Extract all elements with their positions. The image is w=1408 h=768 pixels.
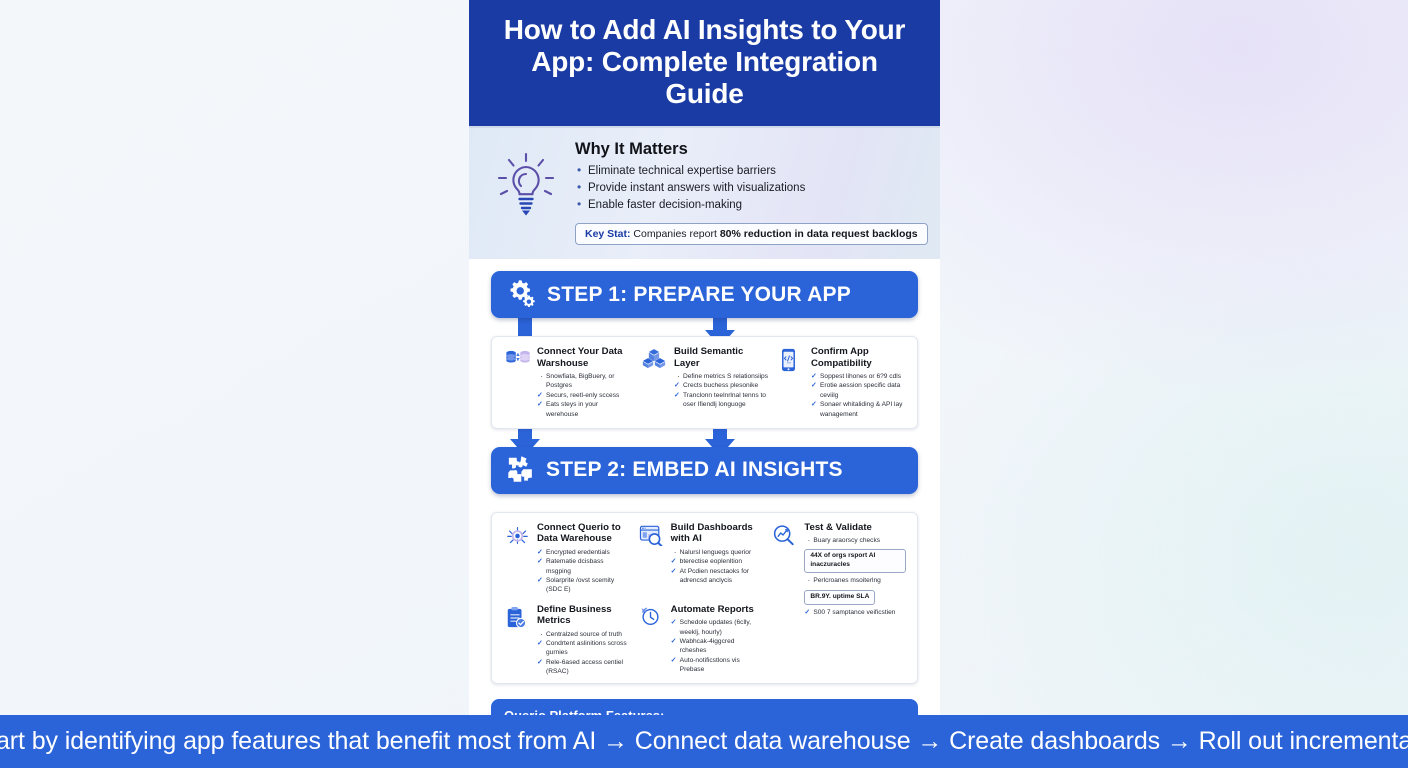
list-item: Ratematie dcisbass msgping (537, 557, 629, 576)
card-title: Confirm App Compatibility (811, 346, 906, 369)
list-item: Schedole updates (6clly, weeklj, hourly) (671, 618, 763, 637)
list-item: Enable faster decision-making (575, 197, 928, 214)
card-feature-list: Encrypted eredentials Ratematie dcisbass… (537, 548, 629, 595)
list-item: Wabhcak-4iggcred rcheshes (671, 637, 763, 656)
why-it-matters-body: Why It Matters Eliminate technical exper… (575, 140, 928, 245)
list-item: Perlcroanes msoiterlng (804, 576, 906, 585)
list-item: Eats steys in your werehouse (537, 400, 632, 419)
card-feature-list: Define metrics S relationsiips Crects bu… (674, 372, 769, 409)
card-title: Connect Querio to Data Warehouse (537, 522, 629, 545)
list-item: Solarprite /ovst scemity (SDC E) (537, 576, 629, 595)
infographic-sheet: How to Add AI Insights to Your App: Comp… (469, 0, 940, 719)
list-item: Soppest lihones or 6?9 cdls (811, 372, 906, 381)
card-body: Connect Querio to Data Warehouse Encrypt… (537, 522, 629, 595)
footer-text: Start by identifying app features that b… (0, 727, 1408, 756)
list-item: Sonaer whitaliding & API lay wanagement (811, 400, 906, 419)
card-body: Connect Your Data Warshouse Snowfiata, B… (537, 346, 632, 419)
card-connect-data-warehouse: Connect Your Data Warshouse Snowfiata, B… (500, 346, 637, 419)
clock-refresh-icon (639, 604, 665, 677)
database-sync-icon (505, 346, 531, 419)
card-body: Build Semantic Layer Define metrics S re… (674, 346, 769, 419)
list-item: Auto-notificstlons vis Prebase (671, 656, 763, 675)
list-item: Crects buchess plesonike (674, 381, 769, 390)
step-1-label: STEP 1: PREPARE YOUR APP (547, 283, 851, 307)
list-item: Securs, reetl-enly sccess (537, 391, 632, 400)
card-body: Automate Reports Schedole updates (6clly… (671, 604, 763, 677)
status-badge: 44X of orgs rsport AI inaczuracles (804, 549, 906, 573)
list-item: Condrtent aslinitions scross gurnies (537, 639, 629, 658)
card-feature-list: Centralzed source of truth Condrtent asl… (537, 630, 629, 677)
key-stat-highlight: 80% reduction in data request backlogs (720, 228, 918, 240)
list-item: Provide instant answers with visualizati… (575, 180, 928, 197)
title-banner: How to Add AI Insights to Your App: Comp… (469, 0, 940, 126)
card-confirm-app-compatibility: Confirm App Compatibility Soppest lihone… (774, 346, 911, 419)
step-1-card-row: Connect Your Data Warshouse Snowfiata, B… (491, 336, 918, 429)
card-feature-list: Buary araorscy checks (804, 536, 906, 545)
mobile-app-icon (779, 346, 805, 419)
status-badge: BR.9Y. uptime SLA (804, 590, 875, 605)
card-feature-list: S00 7 samptance veificstien (804, 608, 906, 617)
card-title: Build Dashboards with AI (671, 522, 763, 545)
card-title: Build Semantic Layer (674, 346, 769, 369)
list-item: Tranclonn teelnrlnal tenns to oser Ifien… (674, 391, 769, 410)
puzzle-icon (507, 454, 535, 487)
page-title: How to Add AI Insights to Your App: Comp… (491, 14, 918, 110)
steps-section: STEP 1: PREPARE YOUR APP (469, 259, 940, 719)
card-feature-list: Perlcroanes msoiterlng (804, 576, 906, 585)
step-2-card-row: Connect Querio to Data Warehouse Encrypt… (491, 512, 918, 685)
step-1-banner: STEP 1: PREPARE YOUR APP (491, 271, 918, 318)
dashboard-search-icon (639, 522, 665, 595)
step-2-banner: STEP 2: EMBED AI INSIGHTS (491, 447, 918, 494)
card-body: Confirm App Compatibility Soppest lihone… (811, 346, 906, 419)
card-define-business-metrics: Define Business Metrics Centralzed sourc… (500, 604, 634, 677)
list-item: Centralzed source of truth (537, 630, 629, 639)
list-item: At Pcdien nesctaoks for adrencsd anclyci… (671, 567, 763, 586)
card-feature-list: Schedole updates (6clly, weeklj, hourly)… (671, 618, 763, 674)
key-stat-text: Companies report (631, 228, 720, 240)
card-test-and-validate: Test & Validate Buary araorscy checks 44… (767, 522, 911, 677)
list-item: Encrypted eredentials (537, 548, 629, 557)
card-feature-list: Snowfiata, BigBuery, or Postgres Securs,… (537, 372, 632, 419)
key-stat-label: Key Stat: (585, 228, 631, 240)
step-2-column-2: Build Dashboards with AI Nalursl lengueg… (634, 522, 768, 677)
card-body: Define Business Metrics Centralzed sourc… (537, 604, 629, 677)
card-title: Define Business Metrics (537, 604, 629, 627)
list-item: Eliminate technical expertise barriers (575, 163, 928, 180)
list-item: Erotie aession specific data ceviilg (811, 381, 906, 400)
list-item: Snowfiata, BigBuery, or Postgres (537, 372, 632, 391)
card-title: Connect Your Data Warshouse (537, 346, 632, 369)
card-feature-list: Nalursl lenguegs querior bterectise eopl… (671, 548, 763, 585)
gears-icon (507, 278, 536, 312)
card-title: Automate Reports (671, 604, 763, 616)
key-stat-badge: Key Stat: Companies report 80% reduction… (575, 223, 928, 245)
lightbulb-icon (491, 140, 561, 223)
list-item: Buary araorscy checks (804, 536, 906, 545)
why-it-matters-list: Eliminate technical expertise barriers P… (575, 163, 928, 214)
cubes-icon (642, 346, 668, 419)
list-item: S00 7 samptance veificstien (804, 608, 906, 617)
footer-banner: Start by identifying app features that b… (0, 715, 1408, 768)
connector-hub-icon (505, 522, 531, 595)
card-connect-querio: Connect Querio to Data Warehouse Encrypt… (500, 522, 634, 595)
card-automate-reports: Automate Reports Schedole updates (6clly… (634, 604, 768, 677)
card-build-dashboards: Build Dashboards with AI Nalursl lengueg… (634, 522, 768, 595)
card-body: Test & Validate Buary araorscy checks 44… (804, 522, 906, 677)
card-feature-list: Soppest lihones or 6?9 cdls Erotie aessi… (811, 372, 906, 419)
clipboard-check-icon (505, 604, 531, 677)
step-2-column-1: Connect Querio to Data Warehouse Encrypt… (500, 522, 634, 677)
step-2-label: STEP 2: EMBED AI INSIGHTS (546, 458, 843, 482)
list-item: Nalursl lenguegs querior (671, 548, 763, 557)
why-it-matters-heading: Why It Matters (575, 140, 928, 159)
card-title: Test & Validate (804, 522, 906, 534)
list-item: Rele-6ased access centiel (RSAC) (537, 658, 629, 677)
card-build-semantic-layer: Build Semantic Layer Define metrics S re… (637, 346, 774, 419)
validate-chart-icon (772, 522, 798, 677)
list-item: Define metrics S relationsiips (674, 372, 769, 381)
why-it-matters-section: Why It Matters Eliminate technical exper… (469, 126, 940, 259)
list-item: bterectise eoplenltion (671, 557, 763, 566)
card-body: Build Dashboards with AI Nalursl lengueg… (671, 522, 763, 595)
